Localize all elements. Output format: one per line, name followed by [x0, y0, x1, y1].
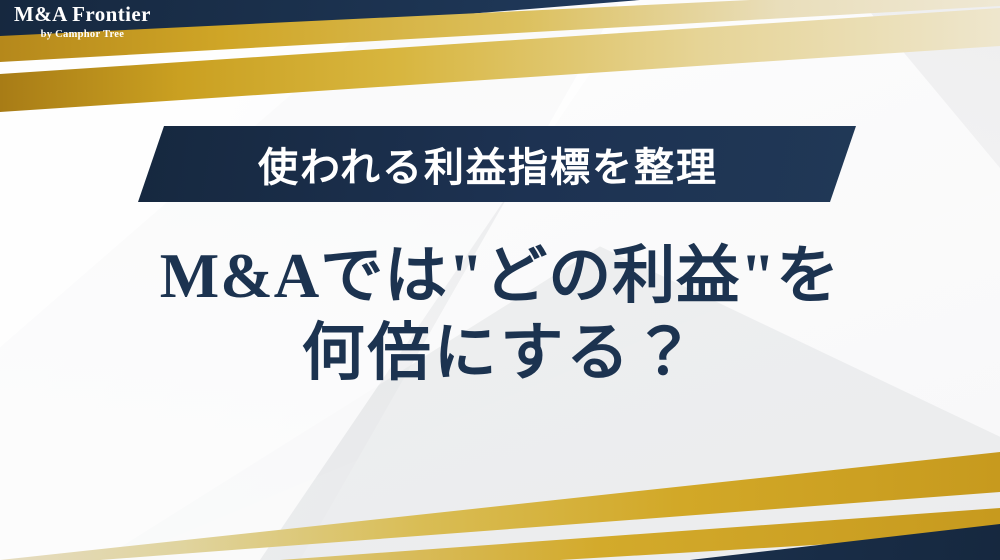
brand-logo-tagline: by Camphor Tree: [14, 30, 151, 41]
headline-line-1: M&Aでは"どの利益"を: [0, 238, 1000, 315]
slide-canvas: M&A Frontier by Camphor Tree 使われる利益指標を整理…: [0, 0, 1000, 560]
brand-logo-name: M&A Frontier: [14, 4, 151, 25]
brand-logo: M&A Frontier by Camphor Tree: [14, 4, 151, 41]
headline-line-2: 何倍にする？: [0, 315, 1000, 392]
ribbon-banner: 使われる利益指標を整理: [138, 126, 856, 202]
headline-block: M&Aでは"どの利益"を 何倍にする？: [0, 238, 1000, 392]
ribbon-label: 使われる利益指標を整理: [138, 126, 856, 202]
